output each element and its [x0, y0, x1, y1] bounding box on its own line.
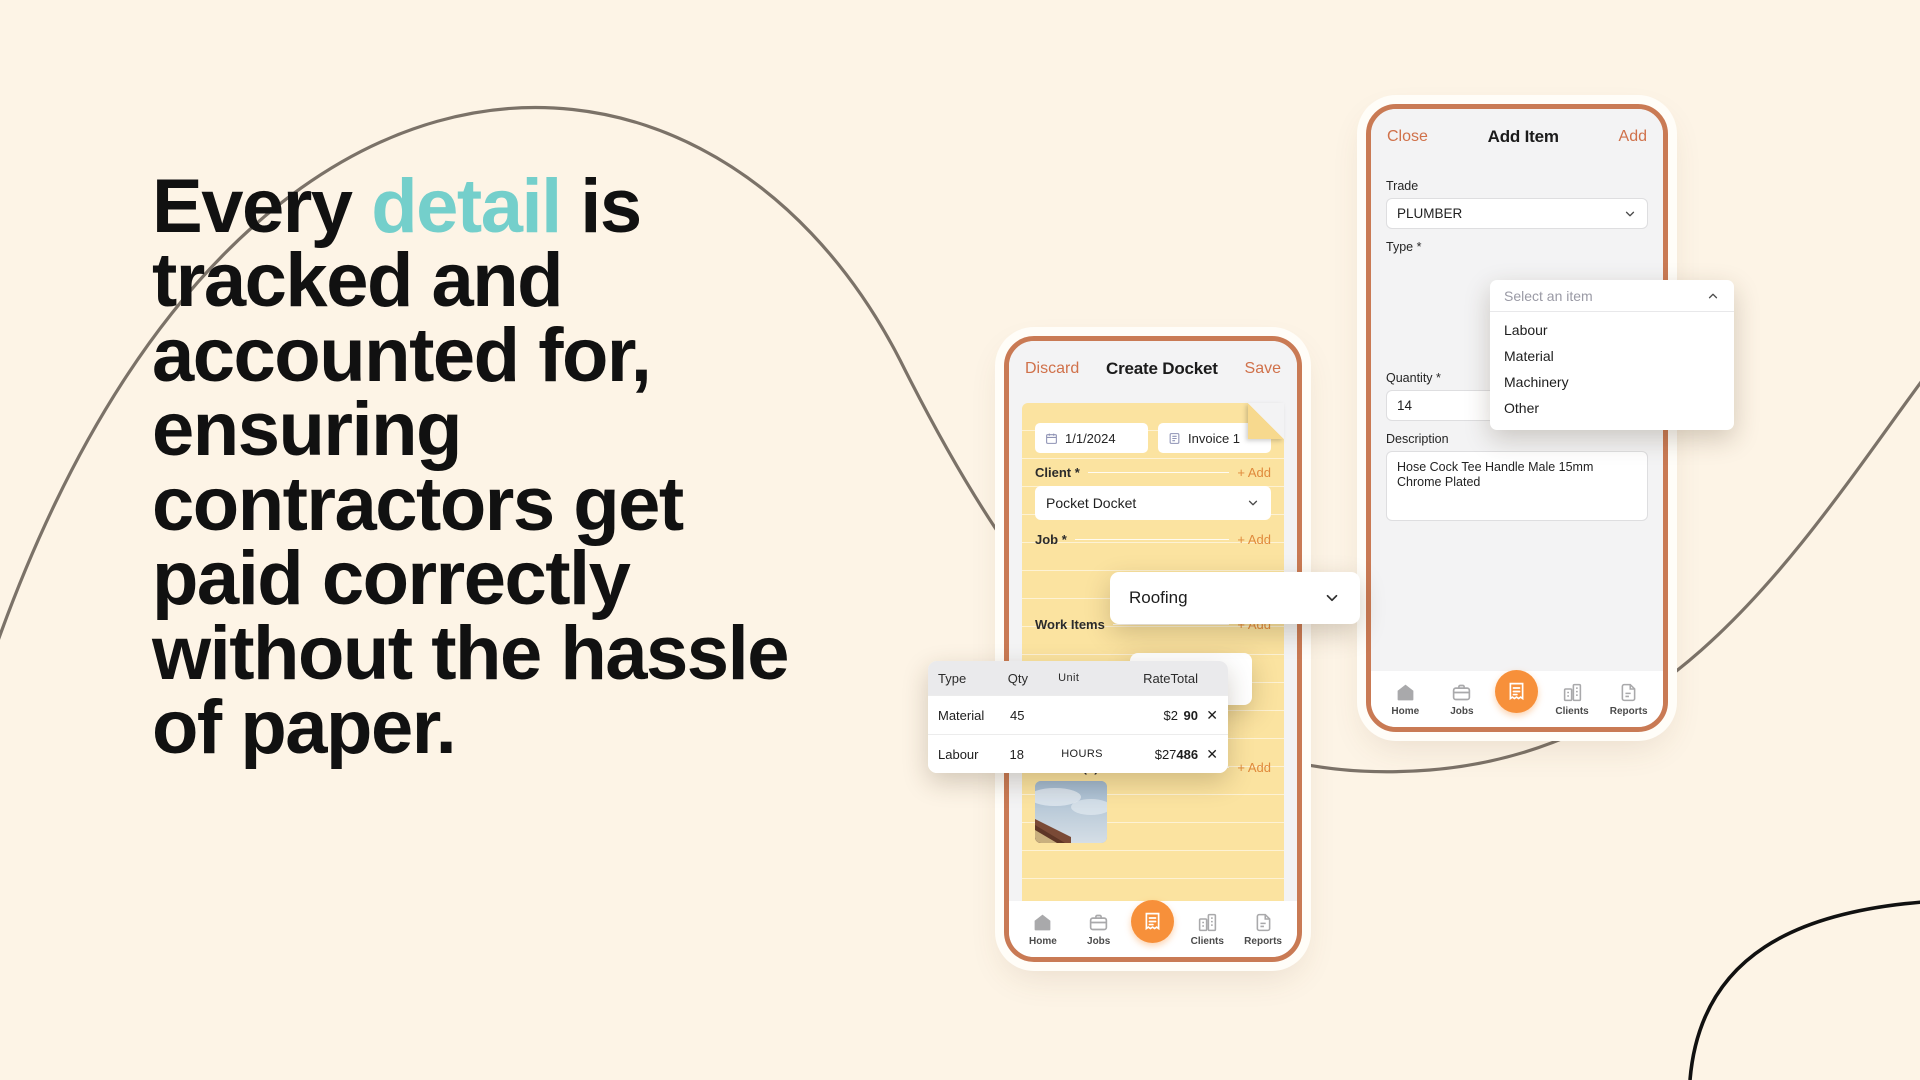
client-section-header: Client * + Add: [1035, 465, 1271, 480]
nav-label-reports: Reports: [1610, 706, 1648, 717]
nav-item-clients[interactable]: Clients: [1549, 682, 1595, 717]
add-item-header: Close Add Item Add: [1371, 109, 1663, 165]
photos-add-button[interactable]: + Add: [1237, 760, 1271, 775]
cell-rate: $27: [1123, 747, 1177, 762]
cell-qty: 45: [1010, 708, 1062, 723]
cell-total: 90: [1178, 708, 1198, 723]
dropdown-option-labour[interactable]: Labour: [1490, 317, 1734, 343]
create-docket-fab[interactable]: [1131, 900, 1174, 943]
column-header-unit: Unit: [1058, 672, 1118, 684]
nav-item-reports[interactable]: Reports: [1606, 682, 1652, 717]
invoice-value: Invoice 1: [1188, 431, 1240, 446]
docket-card: 1/1/2024 Invoice 1 Client * + Add Pocket…: [1022, 403, 1284, 901]
job-dropdown-overlay[interactable]: Roofing: [1110, 572, 1360, 624]
trade-value: PLUMBER: [1397, 206, 1462, 221]
chevron-down-icon: [1246, 496, 1260, 510]
cell-unit: HOURS: [1061, 748, 1123, 760]
job-section-header: Job * + Add: [1035, 532, 1271, 547]
close-button[interactable]: Close: [1387, 128, 1428, 146]
docket-icon: [1142, 911, 1163, 932]
docket-meta-row: 1/1/2024 Invoice 1: [1035, 423, 1271, 453]
docket-icon: [1506, 681, 1527, 702]
page-headline: Every detail is tracked and accounted fo…: [152, 170, 852, 766]
client-add-button[interactable]: + Add: [1237, 465, 1271, 480]
nav-label-jobs: Jobs: [1087, 936, 1110, 947]
job-label: Job *: [1035, 532, 1067, 547]
column-header-rate: Rate: [1118, 671, 1170, 686]
home-icon: [1032, 912, 1053, 933]
document-icon: [1168, 432, 1181, 445]
nav-item-clients[interactable]: Clients: [1184, 912, 1230, 947]
job-add-button[interactable]: + Add: [1237, 532, 1271, 547]
column-header-qty: Qty: [1008, 671, 1058, 686]
create-docket-header: Discard Create Docket Save: [1009, 341, 1297, 397]
headline-part-2: is tracked and accounted for, ensuring c…: [152, 164, 788, 770]
cell-total: 486: [1176, 747, 1198, 762]
cell-type: Material: [938, 708, 1010, 723]
headline-accent-word: detail: [371, 164, 561, 249]
remove-row-icon[interactable]: ✕: [1198, 707, 1218, 724]
client-value: Pocket Docket: [1046, 495, 1136, 511]
nav-label-home: Home: [1029, 936, 1057, 947]
briefcase-icon: [1451, 682, 1472, 703]
column-header-total: Total: [1171, 671, 1218, 686]
client-label: Client *: [1035, 465, 1080, 480]
add-item-bottom-nav: Home Jobs Clients Reports: [1371, 671, 1663, 727]
type-dropdown-placeholder: Select an item: [1504, 288, 1593, 304]
quantity-value: 14: [1397, 398, 1412, 413]
job-divider: [1075, 539, 1230, 540]
discard-button[interactable]: Discard: [1025, 360, 1079, 378]
nav-label-reports: Reports: [1244, 936, 1282, 947]
dropdown-option-other[interactable]: Other: [1490, 395, 1734, 421]
job-dropdown-value: Roofing: [1129, 588, 1188, 608]
create-docket-bottom-nav: Home Jobs Clients Reports: [1009, 901, 1297, 957]
type-dropdown-overlay[interactable]: Select an item Labour Material Machinery…: [1490, 280, 1734, 430]
trade-label: Trade: [1386, 179, 1648, 193]
column-header-type: Type: [938, 671, 1008, 686]
report-icon: [1253, 912, 1274, 933]
trade-select[interactable]: PLUMBER: [1386, 198, 1648, 229]
calendar-icon: [1045, 432, 1058, 445]
table-header-row: Type Qty Unit Rate Total: [928, 661, 1228, 695]
nav-label-clients: Clients: [1191, 936, 1224, 947]
work-items-label: Work Items: [1035, 617, 1105, 632]
dropdown-option-material[interactable]: Material: [1490, 343, 1734, 369]
work-items-divider: [1113, 624, 1230, 625]
dropdown-option-machinery[interactable]: Machinery: [1490, 369, 1734, 395]
add-item-fab[interactable]: [1495, 670, 1538, 713]
page-fold-corner: [1248, 403, 1284, 439]
client-select[interactable]: Pocket Docket: [1035, 486, 1271, 520]
create-docket-phone-mockup: Discard Create Docket Save 1/1/2024 Invo…: [1004, 336, 1302, 962]
description-textarea[interactable]: Hose Cock Tee Handle Male 15mm Chrome Pl…: [1386, 451, 1648, 521]
save-button[interactable]: Save: [1245, 360, 1281, 378]
nav-label-jobs: Jobs: [1450, 706, 1473, 717]
cell-rate: $2: [1124, 708, 1178, 723]
buildings-icon: [1197, 912, 1218, 933]
nav-label-clients: Clients: [1555, 706, 1588, 717]
type-dropdown-options: Labour Material Machinery Other: [1490, 312, 1734, 430]
type-label: Type *: [1386, 240, 1648, 254]
buildings-icon: [1562, 682, 1583, 703]
add-item-title: Add Item: [1488, 127, 1559, 147]
chevron-down-icon: [1623, 207, 1637, 221]
add-button[interactable]: Add: [1619, 128, 1647, 146]
nav-label-home: Home: [1391, 706, 1419, 717]
briefcase-icon: [1088, 912, 1109, 933]
home-icon: [1395, 682, 1416, 703]
table-row[interactable]: Labour 18 HOURS $27 486 ✕: [928, 734, 1228, 773]
date-field[interactable]: 1/1/2024: [1035, 423, 1148, 453]
nav-item-jobs[interactable]: Jobs: [1076, 912, 1122, 947]
headline-part-1: Every: [152, 164, 371, 249]
create-docket-title: Create Docket: [1106, 359, 1218, 379]
photo-thumbnail[interactable]: [1035, 781, 1107, 843]
type-dropdown-header[interactable]: Select an item: [1490, 280, 1734, 312]
report-icon: [1618, 682, 1639, 703]
nav-item-reports[interactable]: Reports: [1240, 912, 1286, 947]
table-row[interactable]: Material 45 $2 90 ✕: [928, 695, 1228, 734]
remove-row-icon[interactable]: ✕: [1198, 746, 1218, 763]
nav-item-home[interactable]: Home: [1382, 682, 1428, 717]
client-divider: [1088, 472, 1230, 473]
cell-type: Labour: [938, 747, 1010, 762]
description-label: Description: [1386, 432, 1648, 446]
date-value: 1/1/2024: [1065, 431, 1116, 446]
create-docket-body: 1/1/2024 Invoice 1 Client * + Add Pocket…: [1009, 397, 1297, 901]
chevron-down-icon[interactable]: [1323, 589, 1341, 607]
cell-qty: 18: [1010, 747, 1062, 762]
nav-item-home[interactable]: Home: [1020, 912, 1066, 947]
chevron-up-icon[interactable]: [1706, 289, 1720, 303]
work-items-table-overlay: Type Qty Unit Rate Total Material 45 $2 …: [928, 661, 1228, 773]
nav-item-jobs[interactable]: Jobs: [1439, 682, 1485, 717]
